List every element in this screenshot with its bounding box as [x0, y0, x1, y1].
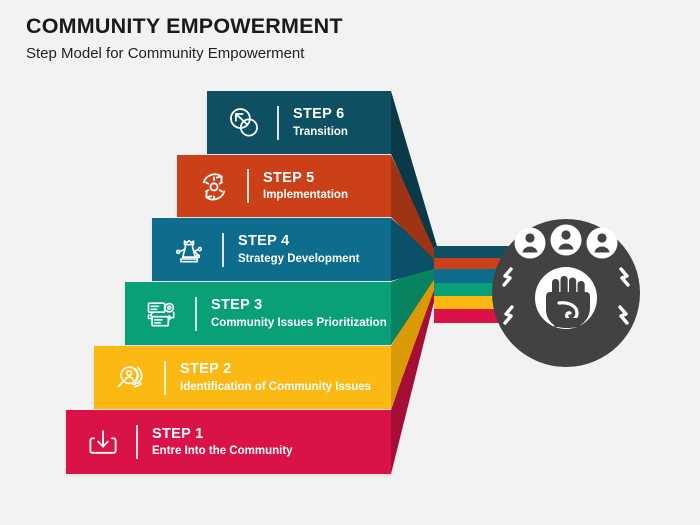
step-number: STEP 1 [152, 426, 293, 443]
magnifier-people-icon [110, 357, 152, 399]
person-icon-1 [515, 228, 546, 259]
step-text-block: STEP 6 Transition [293, 106, 348, 139]
raised-fist-icon [535, 267, 597, 329]
step-divider [222, 233, 224, 267]
step-number: STEP 3 [211, 297, 387, 314]
step-text-block: STEP 5 Implementation [263, 170, 348, 203]
step-number: STEP 2 [180, 361, 371, 378]
document-settings-icon [141, 293, 183, 335]
step-text-block: STEP 4 Strategy Development [238, 233, 359, 266]
step-text-block: STEP 3 Community Issues Prioritization [211, 297, 387, 330]
step-text-block: STEP 2 Identification of Community Issue… [180, 361, 371, 394]
ribbon-connectors [391, 91, 437, 474]
step-label: Community Issues Prioritization [211, 316, 387, 330]
step-divider [195, 297, 197, 331]
step-bar-step-2[interactable]: STEP 2 Identification of Community Issue… [94, 346, 391, 409]
slide-canvas: COMMUNITY EMPOWERMENT Step Model for Com… [0, 0, 700, 525]
step-divider [136, 425, 138, 459]
step-label: Implementation [263, 188, 348, 202]
chess-rook-strategy-icon [168, 229, 210, 271]
step-label: Entre Into the Community [152, 444, 293, 458]
person-icon-3 [587, 228, 618, 259]
cursor-click-icon [223, 102, 265, 144]
person-icon-2 [551, 225, 582, 256]
step-bar-step-5[interactable]: STEP 5 Implementation [177, 155, 391, 217]
step-number: STEP 6 [293, 106, 348, 123]
step-divider [247, 169, 249, 203]
gear-refresh-icon [193, 165, 235, 207]
download-box-icon [82, 421, 124, 463]
step-bar-step-3[interactable]: STEP 3 Community Issues Prioritization [125, 282, 391, 345]
step-bar-step-6[interactable]: STEP 6 Transition [207, 91, 391, 154]
step-divider [277, 106, 279, 140]
step-number: STEP 4 [238, 233, 359, 250]
step-label: Strategy Development [238, 252, 359, 266]
step-divider [164, 361, 166, 395]
step-label: Transition [293, 125, 348, 139]
step-bar-step-4[interactable]: STEP 4 Strategy Development [152, 218, 391, 281]
step-text-block: STEP 1 Entre Into the Community [152, 426, 293, 459]
step-bar-step-1[interactable]: STEP 1 Entre Into the Community [66, 410, 391, 474]
step-label: Identification of Community Issues [180, 380, 371, 394]
step-number: STEP 5 [263, 170, 348, 187]
